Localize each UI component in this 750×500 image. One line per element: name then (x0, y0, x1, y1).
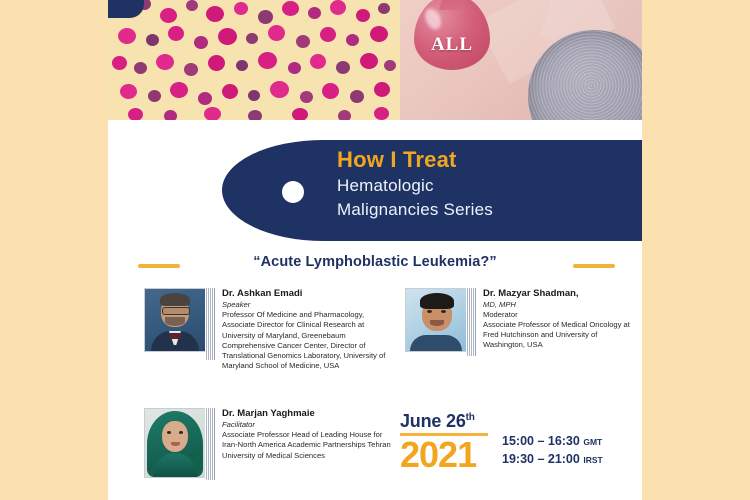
photo-ridge-decor (205, 408, 215, 480)
banner-dot-icon (282, 181, 304, 203)
person-card-moderator: Dr. Mazyar Shadman, MD, MPH Moderator As… (405, 288, 633, 352)
banner-text-group: How I Treat Hematologic Malignancies Ser… (337, 146, 637, 222)
moderator-text: Dr. Mazyar Shadman, MD, MPH Moderator As… (483, 288, 633, 352)
avatar-marjan-yaghmaie (144, 408, 206, 478)
moderator-name: Dr. Mazyar Shadman, (483, 288, 633, 300)
photo-ridge-decor (205, 288, 215, 360)
speaker-photo-wrap (144, 288, 206, 372)
banner-line-2: Hematologic (337, 174, 637, 198)
micrograph-image (108, 0, 400, 120)
event-month-day-text: June 26 (400, 411, 466, 431)
blood-drop-label: ALL (414, 34, 490, 56)
banner-line-3: Malignancies Series (337, 198, 637, 222)
poster-sheet: ALL How I Treat Hematologic Malignancies… (108, 0, 642, 500)
episode-title: “Acute Lymphoblastic Leukemia?” (108, 254, 642, 270)
event-time-gmt: 15:00 – 16:30 GMT (502, 432, 603, 450)
hero-images: ALL (108, 0, 642, 120)
episode-title-row: “Acute Lymphoblastic Leukemia?” (108, 254, 642, 278)
moderator-credentials: MD, MPH (483, 300, 633, 310)
event-time-gmt-value: 15:00 – 16:30 (502, 434, 580, 448)
photo-ridge-decor (466, 288, 476, 356)
speaker-role: Speaker (222, 300, 394, 310)
facilitator-photo-wrap (144, 408, 206, 478)
series-banner: How I Treat Hematologic Malignancies Ser… (222, 140, 642, 241)
poster-root: ALL How I Treat Hematologic Malignancies… (0, 0, 750, 500)
event-time-irst: 19:30 – 21:00 IRST (502, 450, 603, 468)
event-time-irst-value: 19:30 – 21:00 (502, 452, 580, 466)
date-time-block: June 26th 2021 15:00 – 16:30 GMT 19:30 –… (400, 412, 640, 473)
moderator-role: Moderator (483, 310, 633, 320)
facilitator-affiliation: Associate Professor Head of Leading Hous… (222, 430, 394, 461)
facilitator-name: Dr. Marjan Yaghmaie (222, 408, 394, 420)
moderator-photo-wrap (405, 288, 467, 352)
avatar-ashkan-emadi (144, 288, 206, 352)
event-zone-irst: IRST (583, 455, 602, 465)
event-ordinal: th (466, 412, 475, 423)
speaker-name: Dr. Ashkan Emadi (222, 288, 394, 300)
event-times: 15:00 – 16:30 GMT 19:30 – 21:00 IRST (502, 432, 603, 468)
event-month-day: June 26th (400, 412, 640, 430)
speaker-affiliation: Professor Of Medicine and Pharmacology, … (222, 310, 394, 372)
facilitator-role: Facilitator (222, 420, 394, 430)
person-card-facilitator: Dr. Marjan Yaghmaie Facilitator Associat… (144, 408, 394, 478)
lymphocyte-image: ALL (400, 0, 642, 120)
speaker-text: Dr. Ashkan Emadi Speaker Professor Of Me… (222, 288, 394, 372)
event-zone-gmt: GMT (583, 437, 602, 447)
blood-drop-icon: ALL (414, 0, 490, 92)
person-card-speaker: Dr. Ashkan Emadi Speaker Professor Of Me… (144, 288, 394, 372)
dash-right-icon (573, 264, 615, 268)
facilitator-text: Dr. Marjan Yaghmaie Facilitator Associat… (222, 408, 394, 478)
banner-line-1: How I Treat (337, 146, 637, 174)
avatar-mazyar-shadman (405, 288, 467, 352)
moderator-affiliation: Associate Professor of Medical Oncology … (483, 320, 633, 351)
